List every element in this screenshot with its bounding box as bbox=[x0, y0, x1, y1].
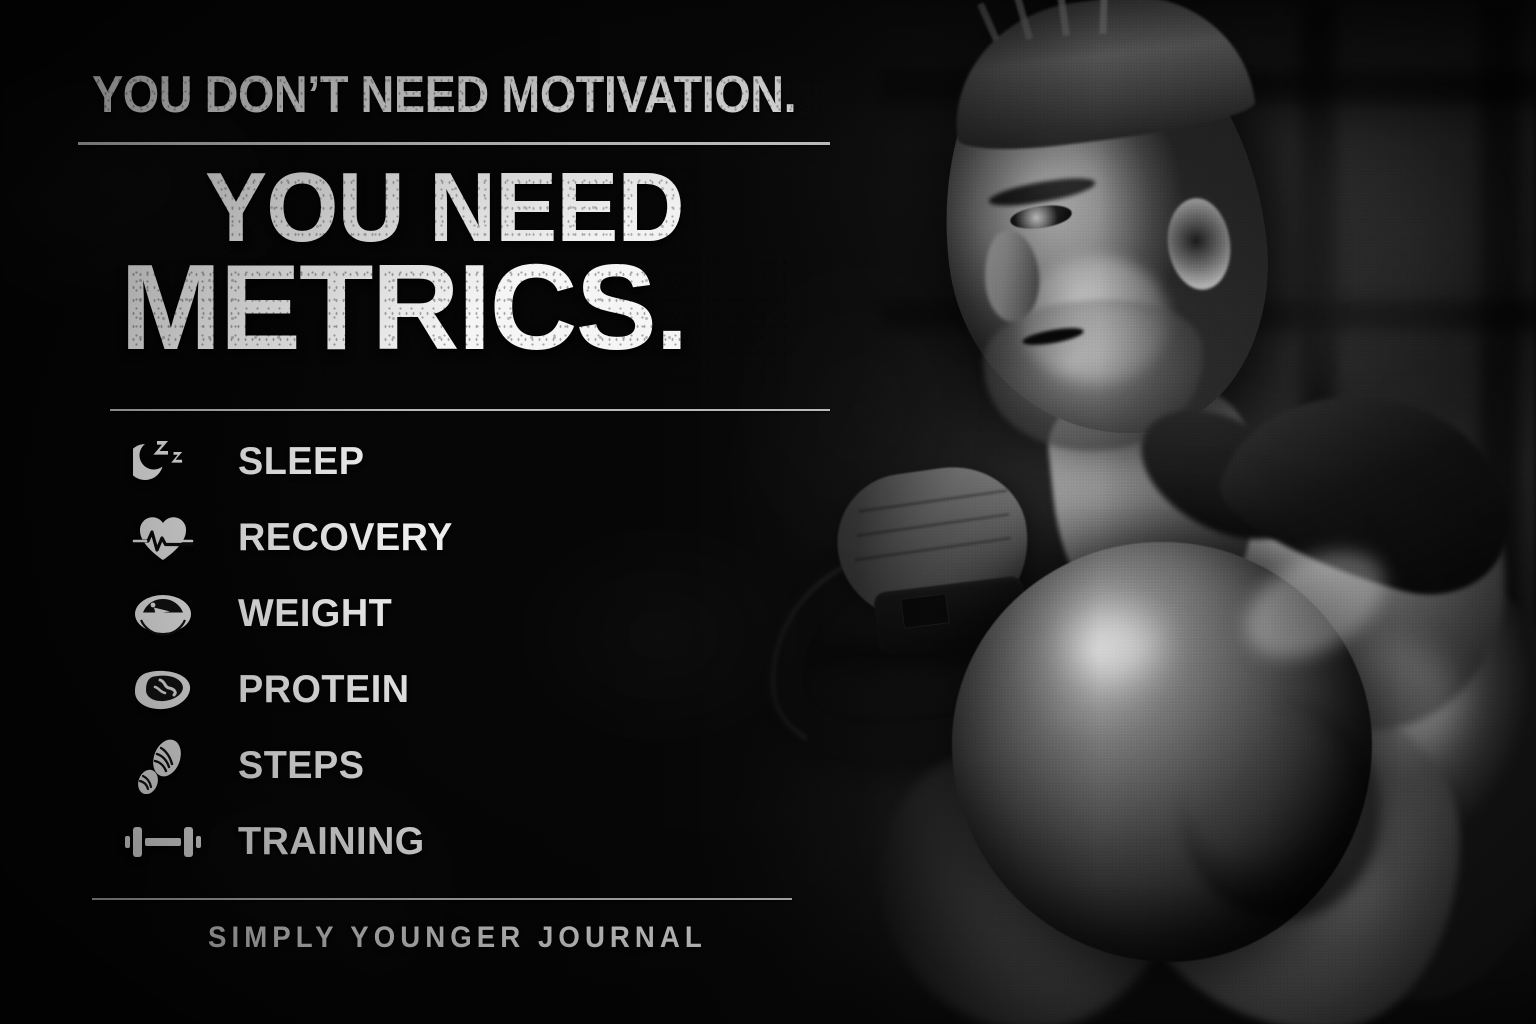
headline-line-2: METRICS. bbox=[120, 246, 687, 368]
motivational-poster: YOU DON’T NEED MOTIVATION. YOU NEED METR… bbox=[0, 0, 1536, 1024]
metric-row-steps: STEPS bbox=[120, 728, 550, 804]
metric-label-steps: STEPS bbox=[238, 744, 364, 788]
divider-middle bbox=[110, 409, 830, 411]
bathroom-scale-icon bbox=[120, 583, 206, 645]
divider-top bbox=[78, 142, 830, 145]
heart-pulse-icon bbox=[120, 507, 206, 569]
steak-icon bbox=[120, 659, 206, 721]
footprints-icon bbox=[120, 735, 206, 797]
metric-label-sleep: SLEEP bbox=[238, 440, 364, 484]
metric-row-recovery: RECOVERY bbox=[120, 500, 550, 576]
barbell-icon bbox=[120, 811, 206, 873]
metrics-list: SLEEP RECOVERY bbox=[120, 424, 550, 880]
hair-spike bbox=[1099, 0, 1107, 34]
metric-row-weight: WEIGHT bbox=[120, 576, 550, 652]
moon-zzz-icon bbox=[120, 431, 206, 493]
metric-label-training: TRAINING bbox=[238, 820, 425, 864]
kettlebell-shadow bbox=[1180, 700, 1380, 920]
divider-bottom bbox=[92, 898, 792, 900]
metric-row-sleep: SLEEP bbox=[120, 424, 550, 500]
metric-row-training: TRAINING bbox=[120, 804, 550, 880]
metric-label-protein: PROTEIN bbox=[238, 668, 410, 712]
metric-row-protein: PROTEIN bbox=[120, 652, 550, 728]
text-content: YOU DON’T NEED MOTIVATION. YOU NEED METR… bbox=[0, 0, 900, 1024]
metric-label-recovery: RECOVERY bbox=[238, 516, 453, 560]
brand-wordmark: SIMPLY YOUNGER JOURNAL bbox=[208, 921, 707, 955]
metric-label-weight: WEIGHT bbox=[238, 592, 392, 636]
kicker-headline: YOU DON’T NEED MOTIVATION. bbox=[92, 69, 740, 121]
